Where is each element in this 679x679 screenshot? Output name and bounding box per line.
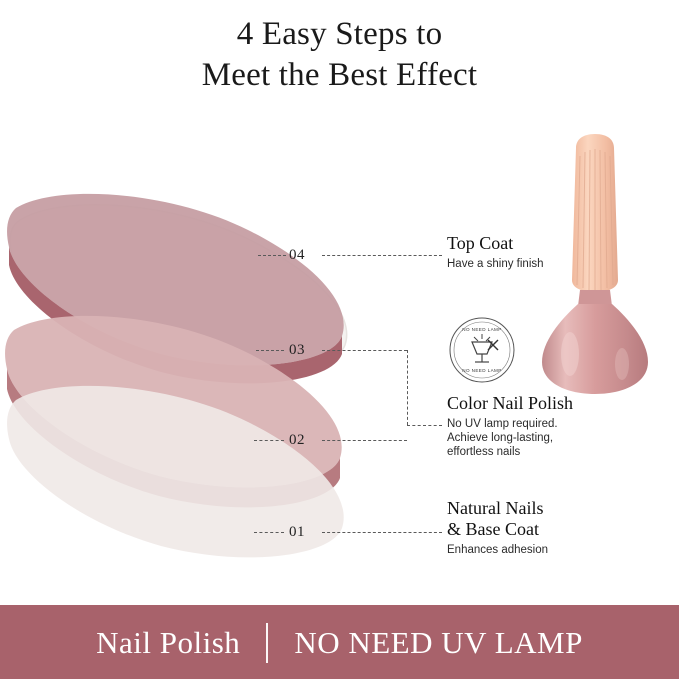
callout-natural-nails-subtext: Enhances adhesion bbox=[447, 543, 637, 557]
step-03-dash-right bbox=[322, 350, 407, 351]
step-number-03: 03 bbox=[289, 342, 305, 359]
callout-color-polish-sub-1: No UV lamp required. bbox=[447, 417, 637, 431]
page-title: 4 Easy Steps to Meet the Best Effect bbox=[0, 14, 679, 96]
banner-divider bbox=[266, 623, 268, 663]
infographic-root: 4 Easy Steps to Meet the Best Effect bbox=[0, 0, 679, 679]
step-01-dash-left bbox=[254, 532, 284, 533]
step-01-dash-right bbox=[322, 532, 442, 533]
no-need-uv-lamp-badge: NO NEED LAMP NO NEED LAMP bbox=[448, 316, 516, 384]
bottom-banner: Nail Polish NO NEED UV LAMP bbox=[0, 607, 679, 679]
step-04-dash-left bbox=[258, 255, 286, 256]
banner-left-text: Nail Polish bbox=[96, 625, 240, 661]
callout-natural-nails-heading-2: & Base Coat bbox=[447, 519, 637, 540]
banner-right-text: NO NEED UV LAMP bbox=[294, 625, 583, 661]
step-02-dash-right bbox=[322, 440, 407, 441]
callout-natural-nails-heading-1: Natural Nails bbox=[447, 498, 637, 519]
step-04-dash-right bbox=[322, 255, 442, 256]
title-line-2: Meet the Best Effect bbox=[0, 55, 679, 96]
callout-top-coat: Top Coat Have a shiny finish bbox=[447, 233, 544, 271]
badge-text-top: NO NEED LAMP bbox=[448, 327, 516, 332]
step-03-dash-to-callout bbox=[407, 425, 442, 426]
badge-text-bottom: NO NEED LAMP bbox=[448, 368, 516, 373]
callout-color-polish-sub-3: effortless nails bbox=[447, 445, 637, 459]
callout-color-polish-heading: Color Nail Polish bbox=[447, 393, 637, 414]
bottle-neck bbox=[578, 290, 612, 306]
step-number-02: 02 bbox=[289, 432, 305, 449]
step-02-dash-left bbox=[254, 440, 284, 441]
title-line-1: 4 Easy Steps to bbox=[0, 14, 679, 55]
nail-polish-bottle bbox=[530, 130, 660, 400]
step-03-dash-vertical bbox=[407, 350, 408, 425]
step-number-01: 01 bbox=[289, 524, 305, 541]
callout-color-nail-polish: Color Nail Polish No UV lamp required. A… bbox=[447, 393, 637, 459]
step-03-dash-left bbox=[256, 350, 284, 351]
bottle-body bbox=[542, 304, 648, 394]
callout-top-coat-heading: Top Coat bbox=[447, 233, 544, 254]
callout-color-polish-sub-2: Achieve long-lasting, bbox=[447, 431, 637, 445]
callout-natural-nails: Natural Nails & Base Coat Enhances adhes… bbox=[447, 498, 637, 557]
step-number-04: 04 bbox=[289, 247, 305, 264]
callout-top-coat-subtext: Have a shiny finish bbox=[447, 257, 544, 271]
